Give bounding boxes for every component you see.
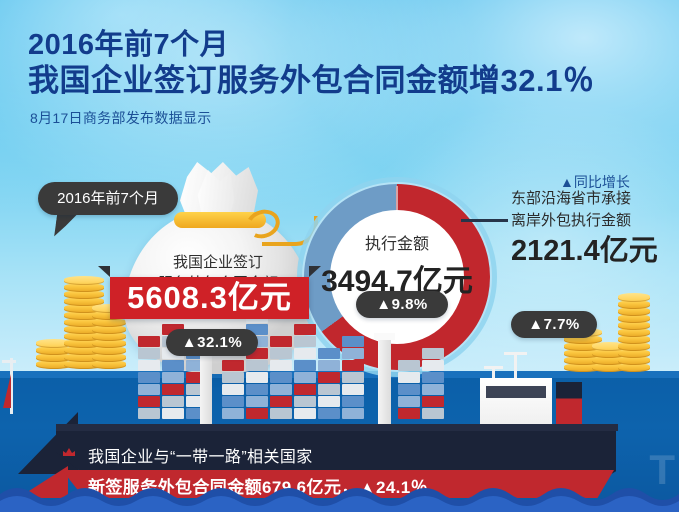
ship-mast-upper — [514, 352, 517, 380]
ship-deck — [56, 424, 618, 431]
shipping-container — [294, 396, 316, 407]
banner-ribbon-right — [309, 266, 321, 277]
shipping-container — [294, 408, 316, 419]
shipping-container — [246, 372, 268, 383]
shipping-container — [138, 396, 160, 407]
shipping-container — [246, 408, 268, 419]
shipping-container — [222, 372, 244, 383]
shipping-container — [294, 324, 316, 335]
shipping-container — [422, 396, 444, 407]
wave-decoration — [0, 486, 679, 512]
shipping-container — [246, 360, 268, 371]
shipping-container — [162, 360, 184, 371]
shipping-container — [422, 360, 444, 371]
belt-road-label: 我国企业与“一带一路”相关国家 — [88, 443, 313, 467]
shipping-container — [294, 348, 316, 359]
gantry-post-cap — [374, 333, 395, 340]
shipping-container — [270, 396, 292, 407]
shipping-container — [342, 384, 364, 395]
shipping-container — [138, 336, 160, 347]
execution-growth-badge: ▲9.8% — [356, 291, 448, 318]
contract-value-banner: 5608.3亿元 — [110, 277, 309, 319]
contract-value-text: 5608.3亿元 — [127, 280, 292, 315]
donut-center-content: 执行金额 3494.7亿元 — [320, 230, 474, 300]
shipping-container — [138, 360, 160, 371]
shipping-container — [342, 348, 364, 359]
shipping-container — [222, 396, 244, 407]
shipping-container — [294, 360, 316, 371]
shipping-container — [270, 372, 292, 383]
shipping-container — [294, 372, 316, 383]
shipping-container — [162, 408, 184, 419]
shipping-container — [246, 384, 268, 395]
shipping-container — [162, 384, 184, 395]
crane-hook — [3, 374, 11, 408]
shipping-container — [342, 360, 364, 371]
donut-leader-line — [461, 219, 508, 222]
gantry-post — [378, 338, 391, 428]
shipping-container — [342, 408, 364, 419]
shipping-container — [270, 336, 292, 347]
shipping-container — [318, 372, 340, 383]
ship-bridge-windows — [486, 386, 546, 398]
shipping-container — [246, 396, 268, 407]
infographic-canvas: 2016年前7个月 我国企业签订服务外包合同金额增32.1％ 8月17日商务部发… — [0, 0, 679, 512]
container-yard — [0, 0, 679, 440]
shipping-container — [318, 360, 340, 371]
shipping-container — [138, 372, 160, 383]
crown-icon — [62, 446, 76, 457]
callout-bubble: 2016年前7个月 — [38, 182, 178, 215]
shipping-container — [342, 396, 364, 407]
shipping-container — [318, 348, 340, 359]
shipping-container — [398, 408, 420, 419]
shipping-container — [270, 348, 292, 359]
shipping-container — [138, 348, 160, 359]
shipping-container — [398, 372, 420, 383]
shipping-container — [398, 396, 420, 407]
shipping-container — [422, 348, 444, 359]
crane-arm — [2, 360, 16, 363]
shipping-container — [162, 396, 184, 407]
shipping-container — [138, 384, 160, 395]
shipping-container — [162, 372, 184, 383]
shipping-container — [422, 408, 444, 419]
shipping-container — [398, 384, 420, 395]
contract-growth-badge: ▲32.1% — [166, 329, 258, 356]
shipping-container — [222, 384, 244, 395]
shipping-container — [138, 408, 160, 419]
shipping-container — [398, 360, 420, 371]
shipping-container — [342, 372, 364, 383]
shipping-container — [342, 336, 364, 347]
shipping-container — [270, 360, 292, 371]
shipping-container — [294, 384, 316, 395]
shipping-container — [318, 408, 340, 419]
shipping-container — [222, 360, 244, 371]
shipping-container — [318, 396, 340, 407]
port-crane — [2, 358, 18, 414]
donut-center-label: 执行金额 — [320, 230, 474, 254]
shipping-container — [222, 408, 244, 419]
shipping-container — [294, 336, 316, 347]
shipping-container — [270, 408, 292, 419]
shipping-container — [318, 384, 340, 395]
shipping-container — [422, 372, 444, 383]
coastal-growth-badge: ▲7.7% — [511, 311, 597, 338]
ship-funnel — [556, 382, 582, 430]
shipping-container — [270, 384, 292, 395]
shipping-container — [422, 384, 444, 395]
banner-ribbon-left — [98, 266, 110, 277]
